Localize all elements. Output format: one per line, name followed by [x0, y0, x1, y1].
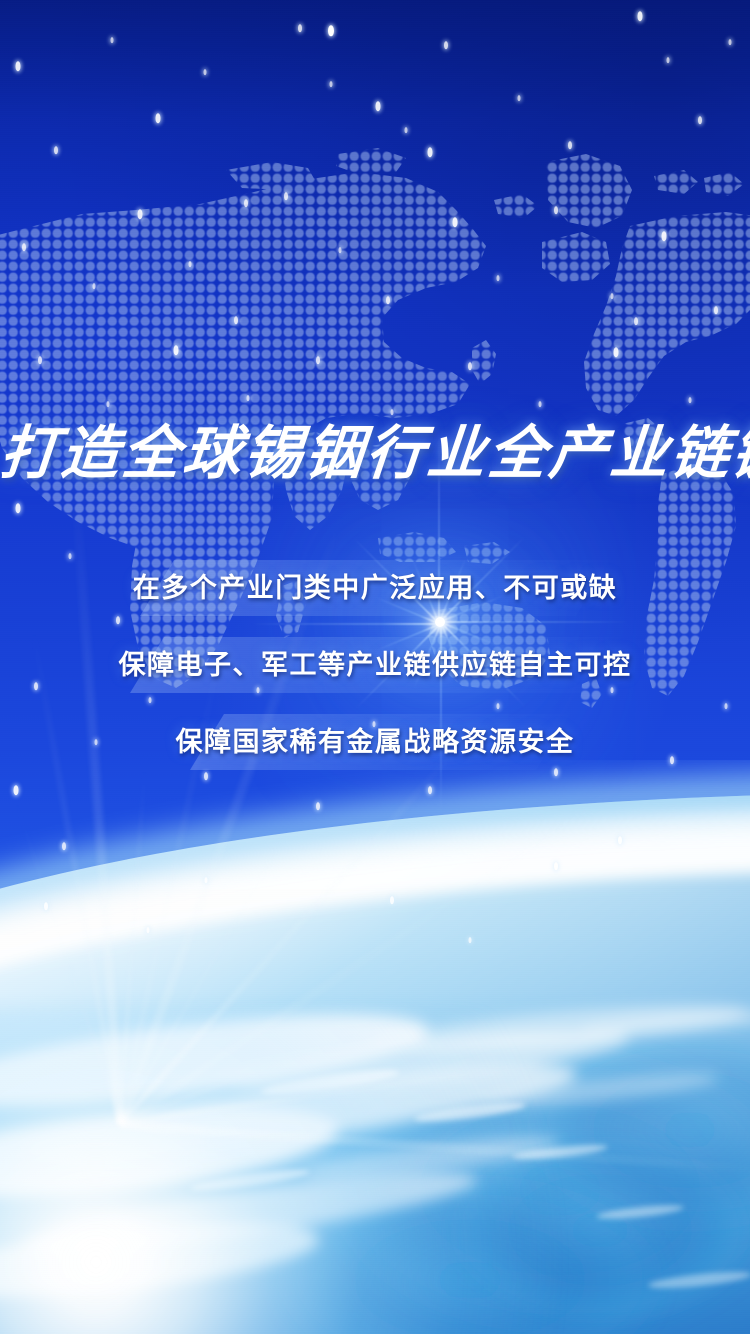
poster-canvas: 打造全球锡铟行业全产业链链主 在多个产业门类中广泛应用、不可或缺 保障电子、军工…: [0, 0, 750, 1334]
texture-overlay: [0, 0, 750, 1334]
